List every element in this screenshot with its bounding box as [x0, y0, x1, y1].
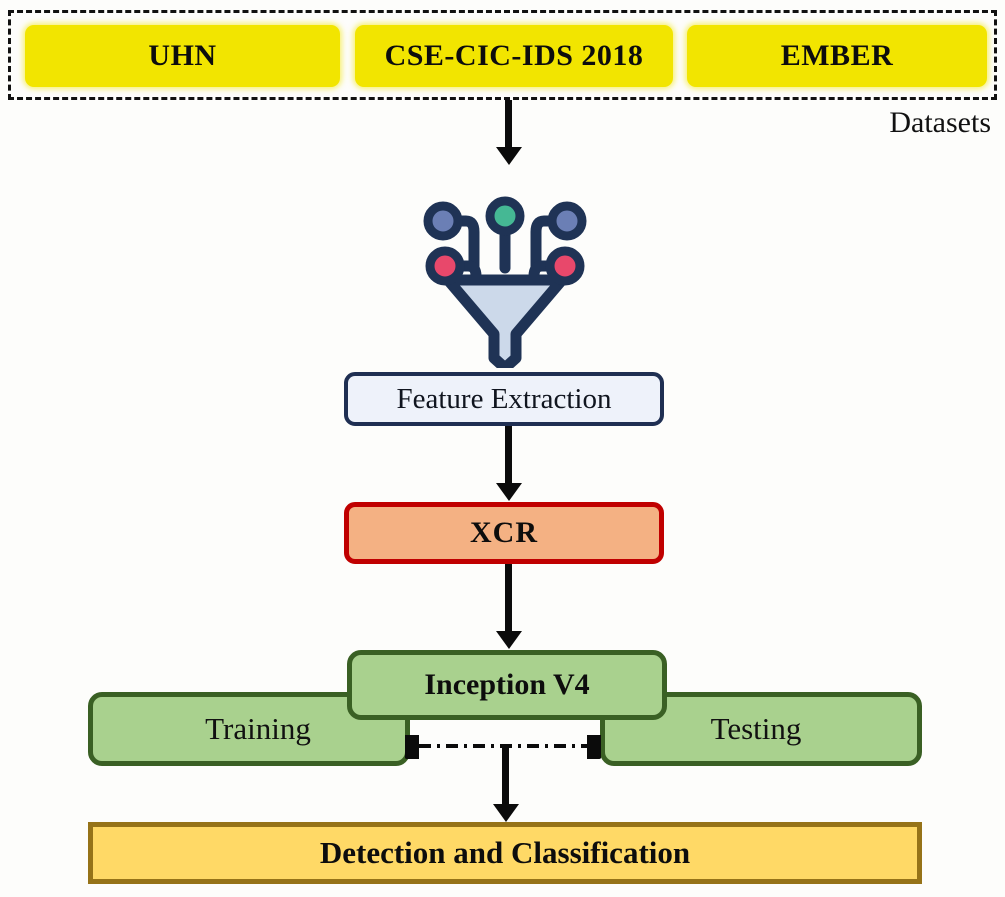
feature-extraction-label: Feature Extraction: [397, 383, 612, 416]
xcr-box[interactable]: XCR: [344, 502, 664, 564]
testing-label: Testing: [711, 711, 802, 747]
arrow-xcr-to-inception: [505, 564, 512, 632]
dataset-box-cse-cic-ids-2018[interactable]: CSE-CIC-IDS 2018: [355, 25, 673, 87]
inception-v4-label: Inception V4: [424, 668, 589, 702]
detection-and-classification-label: Detection and Classification: [320, 835, 690, 871]
diagram-canvas: UHN CSE-CIC-IDS 2018 EMBER Datasets: [0, 0, 1005, 897]
dataset-box-ember[interactable]: EMBER: [687, 25, 987, 87]
arrow-feature-to-xcr: [505, 426, 512, 484]
feature-funnel-icon: [410, 188, 600, 368]
xcr-label: XCR: [470, 516, 538, 550]
feature-extraction-box[interactable]: Feature Extraction: [344, 372, 664, 426]
datasets-group: UHN CSE-CIC-IDS 2018 EMBER: [8, 10, 997, 100]
training-testing-connector: [405, 735, 601, 759]
detection-and-classification-box[interactable]: Detection and Classification: [88, 822, 922, 884]
arrow-datasets-to-funnel: [505, 100, 512, 148]
datasets-caption: Datasets: [889, 106, 991, 140]
training-label: Training: [205, 711, 311, 747]
dataset-label: EMBER: [781, 39, 894, 73]
dataset-label: CSE-CIC-IDS 2018: [385, 39, 644, 73]
dataset-box-uhn[interactable]: UHN: [25, 25, 340, 87]
dataset-label: UHN: [148, 39, 216, 73]
inception-v4-box[interactable]: Inception V4: [347, 650, 667, 720]
